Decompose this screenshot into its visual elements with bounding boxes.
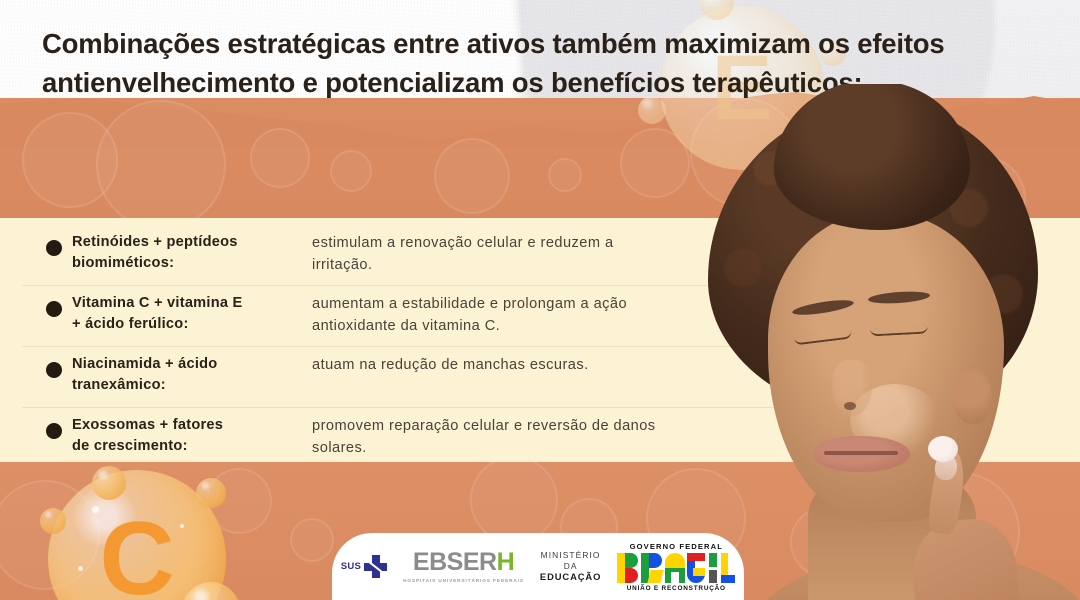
sus-logo-label: SUS: [341, 561, 361, 572]
bullet-wrap: [0, 407, 72, 439]
government-top-label: GOVERNO FEDERAL: [630, 542, 723, 551]
sus-logo: SUS: [341, 555, 387, 578]
vitamin-c-bubble-small-a: [92, 466, 126, 500]
vitamin-c-bubble-small-c: [40, 508, 66, 534]
brasil-wordmark-icon: [617, 553, 735, 583]
woman-applying-cream-photo: [656, 84, 1080, 600]
bullet-wrap: [0, 224, 72, 256]
list-item-term: Retinóides + peptídeos biomiméticos:: [72, 224, 300, 273]
bullet-wrap: [0, 346, 72, 378]
list-item-term: Niacinamida + ácido tranexâmico:: [72, 346, 300, 395]
ebserh-logo: EBSERH HOSPITAIS UNIVERSITÁRIOS FEDERAIS: [403, 550, 524, 583]
bullet-icon: [46, 240, 62, 256]
ebserh-subtitle: HOSPITAIS UNIVERSITÁRIOS FEDERAIS: [403, 578, 524, 583]
vitamin-c-bubble-small-b: [196, 478, 226, 508]
government-bottom-label: UNIÃO E RECONSTRUÇÃO: [627, 585, 726, 592]
footer-logo-bar: SUS EBSERH HOSPITAIS UNIVERSITÁRIOS FEDE…: [332, 533, 744, 600]
bullet-wrap: [0, 285, 72, 317]
bullet-icon: [46, 301, 62, 317]
ebserh-wordmark-gray: EBSER: [413, 548, 497, 576]
list-item-term: Exossomas + fatores de crescimento:: [72, 407, 300, 456]
bullet-icon: [46, 362, 62, 378]
ministry-line-1: MINISTÉRIO DA: [540, 550, 601, 571]
slide-canvas: E C Combinações estratégicas entre ativo…: [0, 0, 1080, 600]
sus-cross-icon: [364, 555, 387, 578]
ebserh-wordmark-green: H: [497, 548, 515, 576]
ebserh-wordmark: EBSERH: [413, 550, 514, 575]
bullet-icon: [46, 423, 62, 439]
government-of-brazil-logo: GOVERNO FEDERAL: [617, 542, 735, 592]
list-item-term: Vitamina C + vitamina E + ácido ferúlico…: [72, 285, 300, 334]
ministry-line-2: EDUCAÇÃO: [540, 571, 601, 583]
ministry-of-education-logo: MINISTÉRIO DA EDUCAÇÃO: [540, 550, 601, 583]
